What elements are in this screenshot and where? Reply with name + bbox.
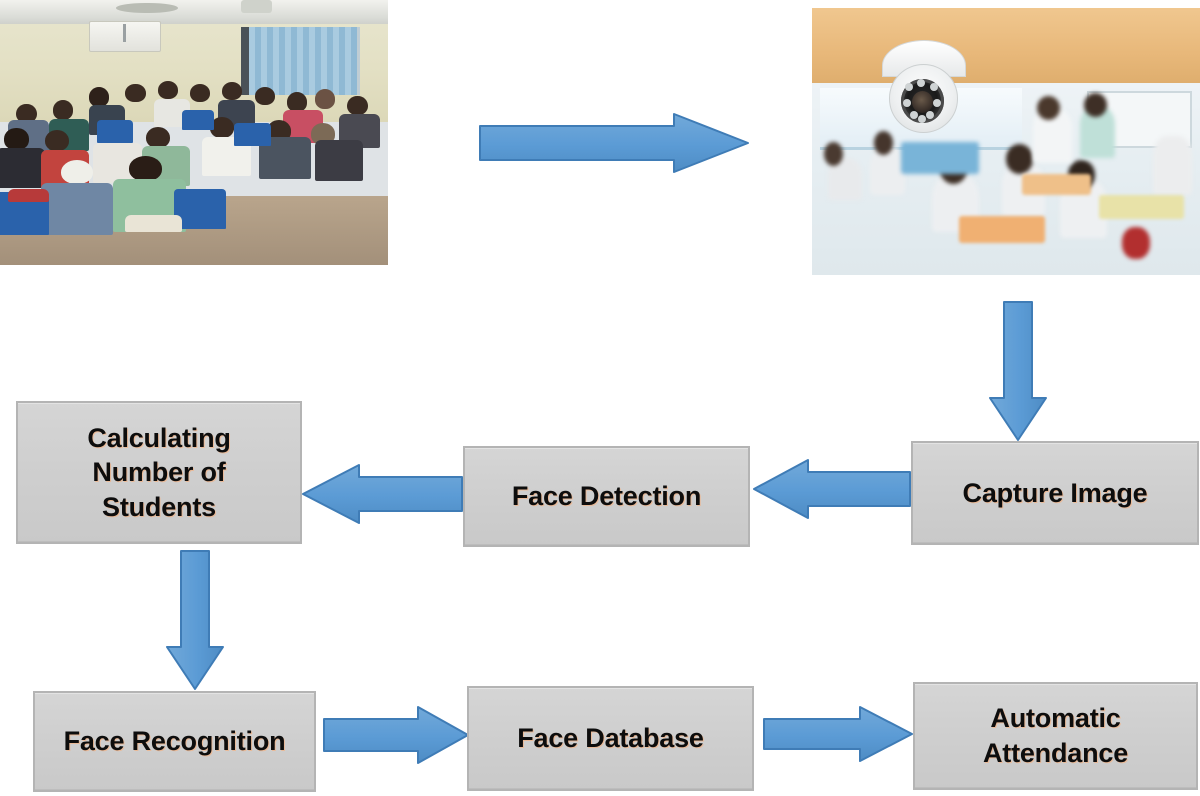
projector-icon (241, 0, 272, 13)
process-box-calculating-number-of-students[interactable]: Calculating Number of Students (16, 401, 302, 544)
arrow-cctv-to-capture-icon (988, 300, 1048, 442)
photo-wooden-ceiling (812, 8, 1200, 83)
process-box-face-detection[interactable]: Face Detection (463, 446, 750, 547)
box-label-face-recognition: Face Recognition (64, 724, 286, 759)
box-label-calculating: Calculating Number of Students (87, 421, 230, 525)
photo-students-group (0, 74, 388, 238)
process-box-face-recognition[interactable]: Face Recognition (33, 691, 316, 792)
arrow-capture-to-detection-icon (752, 458, 912, 520)
process-box-face-database[interactable]: Face Database (467, 686, 754, 791)
classroom-lecture-photo (0, 0, 388, 265)
process-box-automatic-attendance[interactable]: Automatic Attendance (913, 682, 1198, 790)
arrow-detection-to-calculating-icon (301, 463, 464, 525)
box-label-face-database: Face Database (517, 721, 704, 756)
cctv-camera-icon (878, 40, 967, 141)
box-label-capture-image: Capture Image (963, 476, 1148, 511)
air-conditioner-icon (89, 21, 161, 52)
box-label-face-detection: Face Detection (512, 479, 701, 514)
arrow-database-to-attendance-icon (762, 705, 914, 763)
process-box-capture-image[interactable]: Capture Image (911, 441, 1199, 545)
box-label-automatic-attendance: Automatic Attendance (983, 701, 1128, 770)
arrow-calculating-to-recognition-icon (165, 549, 225, 691)
cctv-classroom-photo (812, 8, 1200, 275)
photo-ceiling (0, 0, 388, 24)
arrow-recognition-to-database-icon (322, 705, 470, 765)
arrow-lecture-to-cctv-icon (478, 112, 750, 174)
flowchart-canvas: Calculating Number of Students Face Dete… (0, 0, 1200, 796)
